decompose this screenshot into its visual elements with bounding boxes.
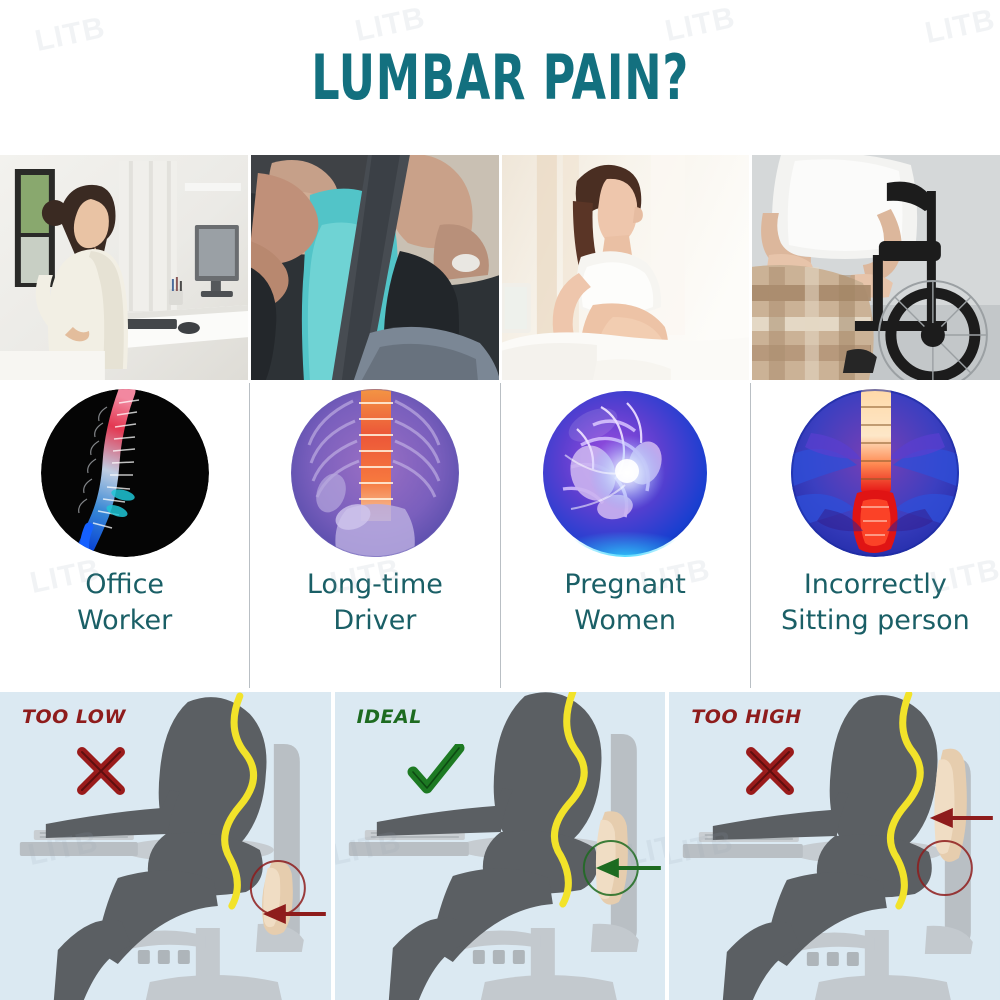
posture-panel-too-low[interactable]: TOO LOW LITB <box>0 692 331 1000</box>
spine-xray-purple-circle-icon <box>291 389 459 557</box>
spine-xray-black-circle-icon <box>41 389 209 557</box>
cause-label-line2: Women <box>564 603 685 639</box>
pregnant-woman-photo <box>502 155 750 380</box>
cross-icon <box>741 744 799 796</box>
infographic-page: LUMBAR PAIN? LITB LITB LITB LITB LITB LI… <box>0 0 1000 1000</box>
cause-label-line1: Long-time <box>307 567 443 603</box>
cause-label: Incorrectly Sitting person <box>781 567 970 638</box>
cause-incorrectly-sitting-person[interactable]: Incorrectly Sitting person <box>750 383 1000 688</box>
photo-row <box>0 155 1000 380</box>
cause-label-line1: Office <box>77 567 172 603</box>
cause-pregnant-women[interactable]: Pregnant Women <box>500 383 750 688</box>
posture-comparison-row: TOO LOW LITB <box>0 692 1000 1000</box>
driver-photo <box>251 155 499 380</box>
cause-long-time-driver[interactable]: Long-time Driver <box>249 383 499 688</box>
causes-row: Office Worker <box>0 383 1000 688</box>
office-worker-photo <box>0 155 248 380</box>
cause-label-line1: Pregnant <box>564 567 685 603</box>
cause-office-worker[interactable]: Office Worker <box>0 383 249 688</box>
posture-badge-ideal: IDEAL <box>357 706 422 728</box>
posture-badge-too-low: TOO LOW <box>22 706 126 728</box>
posture-panel-ideal[interactable]: IDEAL LITB LITB <box>335 692 666 1000</box>
cause-label: Pregnant Women <box>564 567 685 638</box>
posture-badge-too-high: TOO HIGH <box>691 706 801 728</box>
wheelchair-person-photo <box>752 155 1000 380</box>
cause-label-line1: Incorrectly <box>781 567 970 603</box>
cause-label-line2: Worker <box>77 603 172 639</box>
cause-label: Office Worker <box>77 567 172 638</box>
page-title: LUMBAR PAIN? <box>311 41 689 114</box>
lumbar-sacrum-circle-icon <box>791 389 959 557</box>
cause-label: Long-time Driver <box>307 567 443 638</box>
title-bar: LUMBAR PAIN? <box>0 0 1000 155</box>
pelvis-glow-sphere-circle-icon <box>541 389 709 557</box>
cause-label-line2: Sitting person <box>781 603 970 639</box>
check-icon <box>407 744 465 796</box>
posture-panel-too-high[interactable]: TOO HIGH LITB <box>669 692 1000 1000</box>
cause-label-line2: Driver <box>307 603 443 639</box>
cross-icon <box>72 744 130 796</box>
